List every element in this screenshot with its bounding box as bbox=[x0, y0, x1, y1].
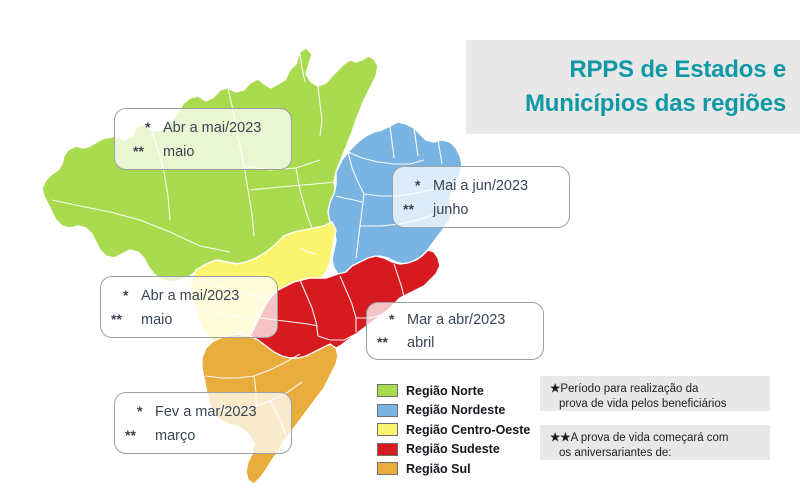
note-start-line2: os aniversariantes de: bbox=[550, 446, 762, 461]
callout-sudeste[interactable]: * Mar a abr/2023 ** abril bbox=[366, 302, 544, 360]
callout-centro-oeste[interactable]: * Abr a mai/2023 ** maio bbox=[100, 276, 278, 338]
note-start-line1: ★★A prova de vida começará com bbox=[550, 431, 762, 446]
legend-swatch-sul bbox=[377, 462, 398, 475]
page-title-line2: Municípios das regiões bbox=[525, 87, 786, 121]
legend-swatch-centro-oeste bbox=[377, 423, 398, 436]
legend-item-centro-oeste: Região Centro-Oeste bbox=[377, 420, 537, 440]
note-box-period: ★Período para realização da prova de vid… bbox=[540, 376, 770, 411]
callout-centro-oeste-month: maio bbox=[141, 312, 172, 328]
legend-swatch-norte bbox=[377, 384, 398, 397]
infographic-root: RPPS de Estados e Municípios das regiões… bbox=[0, 0, 800, 500]
legend-label-norte: Região Norte bbox=[406, 384, 484, 398]
title-panel: RPPS de Estados e Municípios das regiões bbox=[466, 40, 800, 134]
callout-nordeste-period: Mai a jun/2023 bbox=[433, 178, 528, 194]
callout-sul-mark-double: ** bbox=[125, 427, 136, 443]
callout-norte-period: Abr a mai/2023 bbox=[163, 120, 261, 136]
callout-sudeste-mark-single: * bbox=[389, 311, 394, 327]
legend-label-sul: Região Sul bbox=[406, 462, 471, 476]
note-period-text1: Período para realização da bbox=[560, 383, 698, 395]
callout-centro-oeste-mark-double: ** bbox=[111, 311, 122, 327]
callout-norte[interactable]: * Abr a mai/2023 ** maio bbox=[114, 108, 292, 170]
callout-centro-oeste-mark-single: * bbox=[123, 287, 128, 303]
callout-sul[interactable]: * Fev a mar/2023 ** março bbox=[114, 392, 292, 454]
legend-label-sudeste: Região Sudeste bbox=[406, 442, 500, 456]
legend-item-nordeste: Região Nordeste bbox=[377, 401, 537, 421]
callout-sul-month: março bbox=[155, 428, 195, 444]
legend-swatch-sudeste bbox=[377, 443, 398, 456]
legend-swatch-nordeste bbox=[377, 404, 398, 417]
note-period-line1: ★Período para realização da bbox=[550, 382, 762, 397]
callout-nordeste-month: junho bbox=[433, 202, 468, 218]
callout-sul-mark-single: * bbox=[137, 403, 142, 419]
legend-item-norte: Região Norte bbox=[377, 381, 537, 401]
page-title-line1: RPPS de Estados e bbox=[569, 53, 786, 87]
callout-sudeste-mark-double: ** bbox=[377, 334, 388, 350]
legend-label-centro-oeste: Região Centro-Oeste bbox=[406, 423, 530, 437]
callout-sul-period: Fev a mar/2023 bbox=[155, 404, 257, 420]
note-box-start: ★★A prova de vida começará com os aniver… bbox=[540, 425, 770, 460]
double-star-icon: ★★ bbox=[550, 432, 571, 444]
callout-sudeste-month: abril bbox=[407, 335, 434, 351]
star-icon: ★ bbox=[550, 383, 560, 395]
legend-item-sudeste: Região Sudeste bbox=[377, 440, 537, 460]
callout-norte-mark-double: ** bbox=[133, 143, 144, 159]
legend-item-sul: Região Sul bbox=[377, 459, 537, 479]
note-period-line2: prova de vida pelos beneficiários bbox=[550, 397, 762, 412]
legend: Região Norte Região Nordeste Região Cent… bbox=[377, 381, 537, 479]
note-start-text1: A prova de vida começará com bbox=[571, 432, 729, 444]
callout-nordeste[interactable]: * Mai a jun/2023 ** junho bbox=[392, 166, 570, 228]
callout-nordeste-mark-double: ** bbox=[403, 201, 414, 217]
callout-nordeste-mark-single: * bbox=[415, 177, 420, 193]
callout-centro-oeste-period: Abr a mai/2023 bbox=[141, 288, 239, 304]
callout-norte-month: maio bbox=[163, 144, 194, 160]
callout-norte-mark-single: * bbox=[145, 119, 150, 135]
legend-label-nordeste: Região Nordeste bbox=[406, 403, 505, 417]
callout-sudeste-period: Mar a abr/2023 bbox=[407, 312, 505, 328]
